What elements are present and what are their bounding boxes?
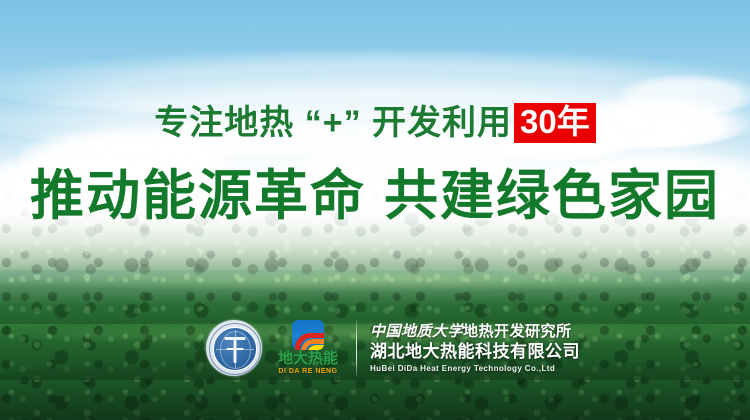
footer-divider [356,320,357,376]
years-badge: 30年 [514,103,596,143]
dida-logo: 地大热能 DI DA RE NENG [271,320,345,376]
university-seal-icon [206,320,262,376]
seal-hammer-icon [234,337,237,363]
promotional-banner: 专注地热 “+” 开发利用30年 推动能源革命共建绿色家园 地大热能 DI DA… [0,0,750,420]
dida-logo-en: DI DA RE NENG [278,367,337,376]
footer-branding: 地大热能 DI DA RE NENG 中国地质大学地热开发研究所 湖北地大热能科… [206,317,580,379]
seal-globe [213,327,257,371]
org-line-3-english: HuBei DiDa Heat Energy Technology Co.,Lt… [370,363,580,375]
org-university-name: 中国地质大学 [370,322,463,340]
org-line-2: 湖北地大热能科技有限公司 [370,341,580,363]
banner-subtitle: 专注地热 “+” 开发利用30年 [0,99,750,145]
org-line-1: 中国地质大学地热开发研究所 [370,322,580,341]
banner-headline: 推动能源革命共建绿色家园 [0,163,750,229]
headline-right: 共建绿色家园 [384,166,720,226]
organization-names: 中国地质大学地热开发研究所 湖北地大热能科技有限公司 HuBei DiDa He… [370,322,580,375]
subtitle-text: 专注地热 “+” 开发利用 [154,104,512,142]
dida-logo-cn: 地大热能 [278,351,338,367]
org-institute-name: 地热开发研究所 [463,323,572,340]
dida-rainbow-icon [292,320,324,350]
headline-left: 推动能源革命 [30,166,366,226]
